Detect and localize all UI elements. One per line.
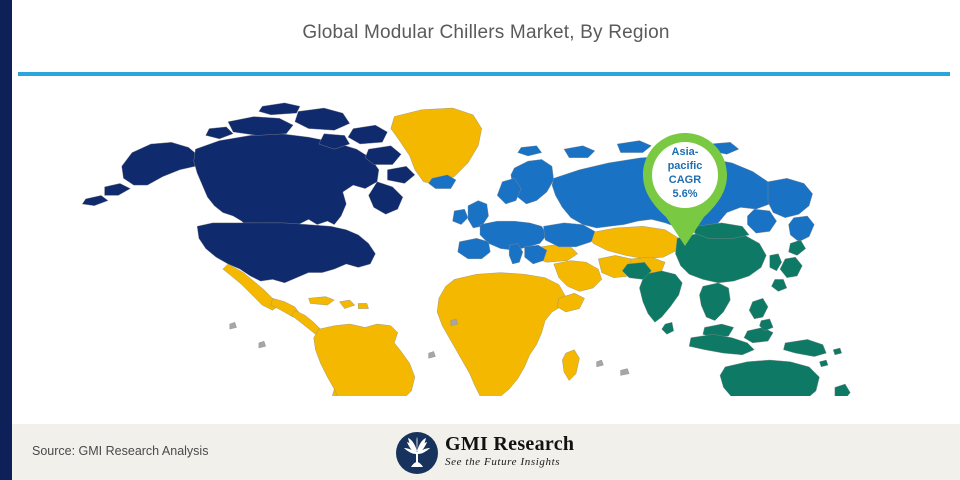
logo-tagline: See the Future Insights bbox=[445, 455, 595, 469]
header-divider bbox=[18, 72, 950, 76]
footer: Source: GMI Research Analysis GMI Resea bbox=[12, 424, 960, 480]
world-map bbox=[50, 96, 910, 396]
region-north-america bbox=[82, 103, 415, 283]
gmi-research-logo: GMI Research See the Future Insights bbox=[395, 429, 595, 477]
page-title: Global Modular Chillers Market, By Regio… bbox=[12, 22, 960, 44]
left-accent-bar bbox=[0, 0, 12, 480]
map-container: Asia- pacific CAGR 5.6% bbox=[12, 78, 960, 424]
logo-name: GMI Research bbox=[445, 433, 595, 455]
header: Global Modular Chillers Market, By Regio… bbox=[12, 0, 960, 72]
slide-canvas: Global Modular Chillers Market, By Regio… bbox=[0, 0, 960, 480]
map-pin-icon bbox=[636, 131, 734, 249]
asia-pacific-pin-marker[interactable]: Asia- pacific CAGR 5.6% bbox=[636, 131, 734, 249]
source-note: Source: GMI Research Analysis bbox=[32, 444, 208, 458]
palm-tree-icon bbox=[395, 431, 439, 475]
logo-text: GMI Research See the Future Insights bbox=[445, 433, 595, 469]
